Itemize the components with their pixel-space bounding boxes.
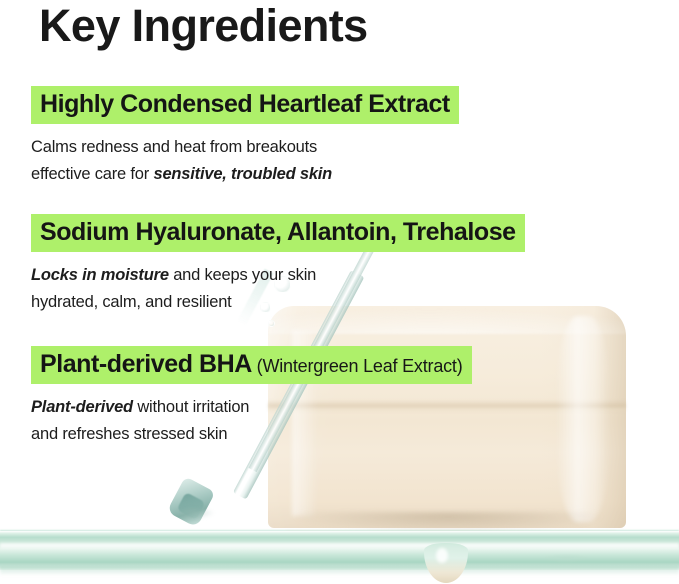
body-text-plain: effective care for (31, 165, 153, 183)
ingredient-body-1: Calms redness and heat from breakouts ef… (31, 134, 459, 188)
ingredient-heading-3: Plant-derived BHA (40, 350, 252, 378)
ingredient-heading-1: Highly Condensed Heartleaf Extract (40, 90, 450, 118)
ingredient-body-line-1: Locks in moisture and keeps your skin (31, 262, 525, 289)
ingredient-heading-highlight-2: Sodium Hyaluronate, Allantoin, Trehalose (31, 214, 525, 252)
ingredient-body-3: Plant-derived without irritation and ref… (31, 394, 472, 448)
ingredient-body-line-2: effective care for sensitive, troubled s… (31, 161, 459, 188)
ingredient-heading-highlight-1: Highly Condensed Heartleaf Extract (31, 86, 459, 124)
body-text-plain: and keeps your skin (169, 266, 316, 284)
ingredient-block-2: Sodium Hyaluronate, Allantoin, Trehalose… (31, 214, 525, 316)
ingredient-heading-note-3: (Wintergreen Leaf Extract) (252, 356, 463, 376)
ingredient-body-line-1: Calms redness and heat from breakouts (31, 134, 459, 161)
ingredient-block-1: Highly Condensed Heartleaf Extract Calms… (31, 86, 459, 188)
ingredient-body-line-2: and refreshes stressed skin (31, 421, 472, 448)
ingredient-body-line-2: hydrated, calm, and resilient (31, 289, 525, 316)
ingredient-block-3: Plant-derived BHA (Wintergreen Leaf Extr… (31, 346, 472, 448)
page-title: Key Ingredients (39, 0, 368, 54)
body-text-emphasis: sensitive, troubled skin (153, 165, 332, 183)
body-text-plain: without irritation (133, 398, 249, 416)
ingredient-heading-2: Sodium Hyaluronate, Allantoin, Trehalose (40, 218, 516, 246)
ingredient-body-2: Locks in moisture and keeps your skin hy… (31, 262, 525, 316)
body-text-emphasis: Locks in moisture (31, 266, 169, 284)
ingredient-body-line-1: Plant-derived without irritation (31, 394, 472, 421)
body-text-emphasis: Plant-derived (31, 398, 133, 416)
ingredient-heading-highlight-3: Plant-derived BHA (Wintergreen Leaf Extr… (31, 346, 472, 384)
